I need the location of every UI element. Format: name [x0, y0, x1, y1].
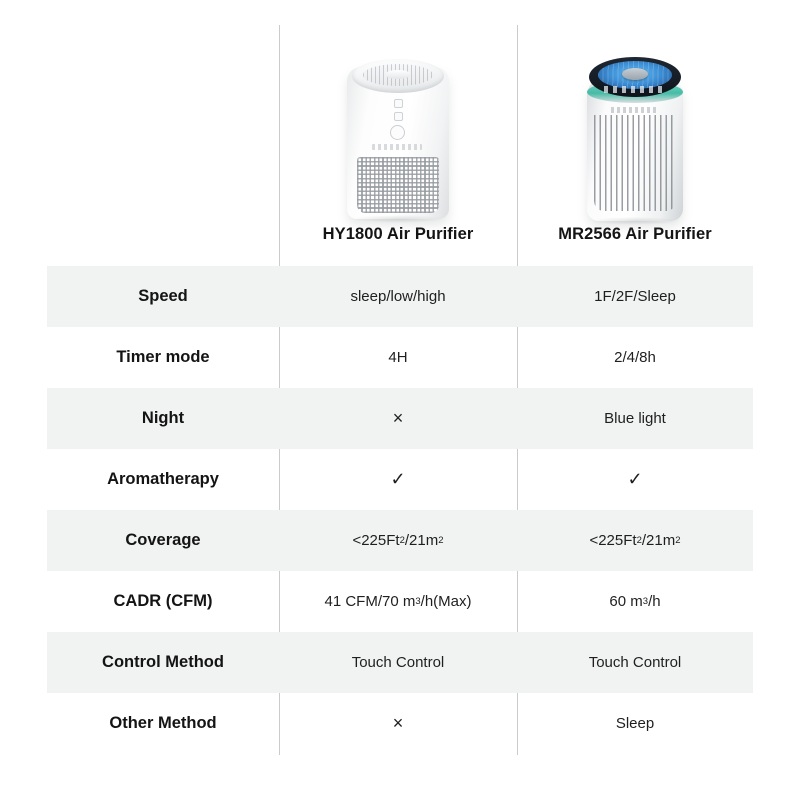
- header-cell-hy1800: HY1800 Air Purifier: [279, 20, 517, 266]
- header-cell-mr2566: MR2566 Air Purifier: [517, 20, 753, 266]
- table-row: Coverage <225Ft2 /21m2 <225Ft2 /21m2: [47, 510, 753, 571]
- value-hy1800: sleep/low/high: [279, 266, 517, 327]
- table-row: Aromatherapy ✓ ✓: [47, 449, 753, 510]
- hy1800-air-purifier-photo: [333, 45, 463, 225]
- value-mr2566: Touch Control: [517, 632, 753, 693]
- value-text: /h(Max): [421, 593, 472, 610]
- fan-speed-icon: [394, 99, 403, 108]
- value-text: 60 m: [609, 593, 642, 610]
- feature-label: Aromatherapy: [47, 449, 279, 510]
- feature-label: CADR (CFM): [47, 571, 279, 632]
- product-name-mr2566: MR2566 Air Purifier: [558, 225, 712, 266]
- table-row: Timer mode 4H 2/4/8h: [47, 327, 753, 388]
- value-mr2566: 60 m3/h: [517, 571, 753, 632]
- value-text: /21m: [405, 532, 438, 549]
- value-hy1800: 4H: [279, 327, 517, 388]
- value-text: /21m: [642, 532, 675, 549]
- product-comparison-sheet: HY1800 Air Purifier MR2566 Air Purifier …: [0, 0, 800, 800]
- power-button-icon: [390, 125, 405, 140]
- table-row: Speed sleep/low/high 1F/2F/Sleep: [47, 266, 753, 327]
- feature-label: Coverage: [47, 510, 279, 571]
- product-name-hy1800: HY1800 Air Purifier: [323, 225, 474, 266]
- value-mr2566: <225Ft2 /21m2: [517, 510, 753, 571]
- drop-shadow: [592, 217, 678, 225]
- value-text: <225Ft: [352, 532, 399, 549]
- header-cell-feature: [47, 20, 279, 266]
- feature-label: Control Method: [47, 632, 279, 693]
- air-intake-slots: [594, 115, 676, 211]
- value-hy1800: ✓: [279, 449, 517, 510]
- value-hy1800: <225Ft2 /21m2: [279, 510, 517, 571]
- control-icons: [389, 99, 407, 121]
- brand-logo: [372, 144, 422, 150]
- value-text: 41 CFM/70 m: [325, 593, 416, 610]
- drop-shadow: [353, 215, 443, 223]
- value-mr2566: Blue light: [517, 388, 753, 449]
- value-mr2566: ✓: [517, 449, 753, 510]
- feature-label: Speed: [47, 266, 279, 327]
- timer-icon: [394, 112, 403, 121]
- value-mr2566: 2/4/8h: [517, 327, 753, 388]
- spec-comparison-table: Speed sleep/low/high 1F/2F/Sleep Timer m…: [47, 266, 753, 754]
- mr2566-air-purifier-photo: [570, 45, 700, 225]
- feature-label: Timer mode: [47, 327, 279, 388]
- table-row: Control Method Touch Control Touch Contr…: [47, 632, 753, 693]
- brand-logo: [611, 107, 659, 113]
- feature-label: Night: [47, 388, 279, 449]
- center-control-knob: [622, 68, 648, 80]
- value-text: /h: [648, 593, 661, 610]
- air-intake-mesh: [357, 157, 439, 213]
- value-hy1800: ×: [279, 693, 517, 754]
- purifier-top-knob: [385, 70, 411, 79]
- feature-label: Other Method: [47, 693, 279, 754]
- table-row: CADR (CFM) 41 CFM/70 m3/h(Max) 60 m3/h: [47, 571, 753, 632]
- value-text: <225Ft: [589, 532, 636, 549]
- table-row: Night × Blue light: [47, 388, 753, 449]
- control-panel-labels: [604, 86, 666, 93]
- value-mr2566: 1F/2F/Sleep: [517, 266, 753, 327]
- value-hy1800: Touch Control: [279, 632, 517, 693]
- product-header-row: HY1800 Air Purifier MR2566 Air Purifier: [47, 20, 753, 266]
- value-hy1800: 41 CFM/70 m3/h(Max): [279, 571, 517, 632]
- table-row: Other Method × Sleep: [47, 693, 753, 754]
- value-mr2566: Sleep: [517, 693, 753, 754]
- value-hy1800: ×: [279, 388, 517, 449]
